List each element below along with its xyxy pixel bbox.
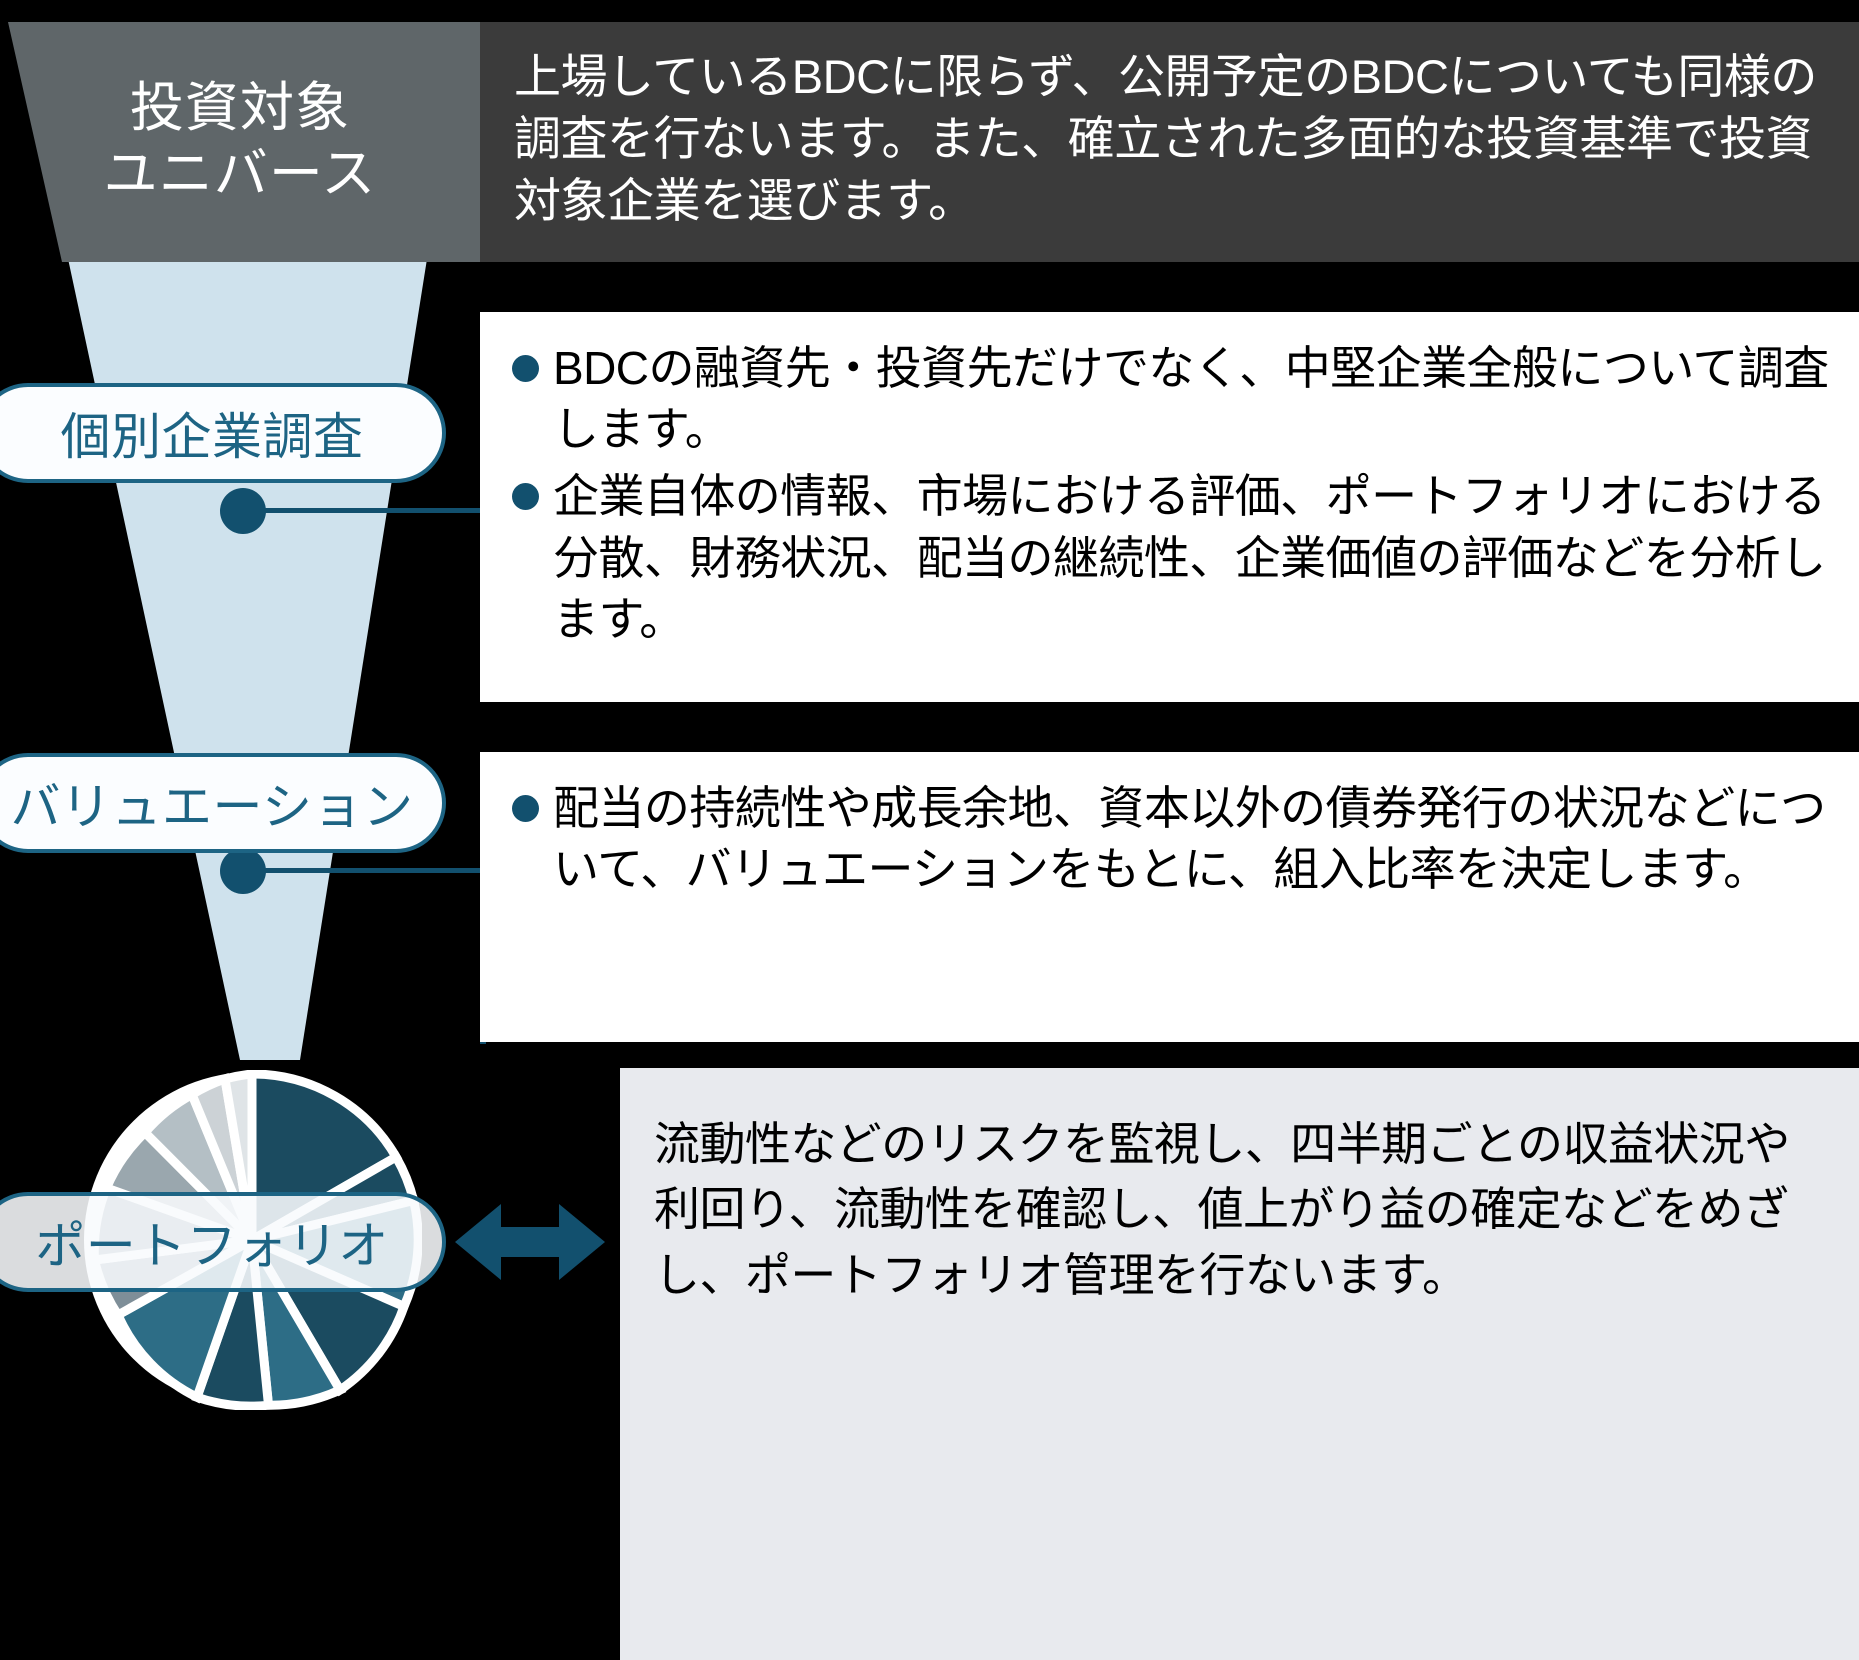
portfolio-description-text: 流動性などのリスクを監視し、四半期ごとの収益状況や利回り、流動性を確認し、値上が… (654, 1112, 1825, 1308)
connector-research-dot (220, 488, 266, 534)
bullet-text: BDCの融資先・投資先だけでなく、中堅企業全般について調査します。 (553, 338, 1829, 460)
stage-pill-valuation-label: バリュエーション (11, 767, 414, 839)
connector-research (0, 310, 500, 710)
stage-pill-research[interactable]: 個別企業調査 (0, 383, 446, 483)
connector-research-horizontal (248, 508, 484, 513)
header-stage-label-line1: 投資対象 (130, 76, 350, 142)
double-arrow-icon (455, 1196, 605, 1288)
header-description-text: 上場しているBDCに限らず、公開予定のBDCについても同様の調査を行ないます。ま… (514, 46, 1831, 232)
connector-valuation-dot (220, 848, 266, 894)
bullet-dot-icon (512, 355, 539, 382)
stage-pill-valuation[interactable]: バリュエーション (0, 753, 446, 853)
connector-valuation-horizontal (248, 868, 484, 873)
stage-pill-portfolio-label: ポートフォリオ (35, 1206, 389, 1278)
stage-pill-portfolio[interactable]: ポートフォリオ (0, 1192, 446, 1292)
portfolio-content-panel: 流動性などのリスクを監視し、四半期ごとの収益状況や利回り、流動性を確認し、値上が… (620, 1068, 1859, 1660)
valuation-content-panel: 配当の持続性や成長余地、資本以外の債券発行の状況などについて、バリュエーションを… (480, 752, 1859, 1042)
header-stage-label: 投資対象 ユニバース (0, 22, 480, 262)
header-stage-label-line2: ユニバース (104, 142, 377, 208)
bullet-item: BDCの融資先・投資先だけでなく、中堅企業全般について調査します。 (498, 338, 1829, 460)
bullet-dot-icon (512, 795, 539, 822)
header-stage-trapezoid: 投資対象 ユニバース (0, 22, 480, 262)
bullet-dot-icon (512, 483, 539, 510)
stage-pill-research-label: 個別企業調査 (61, 397, 364, 469)
research-content-panel: BDCの融資先・投資先だけでなく、中堅企業全般について調査します。 企業自体の情… (480, 312, 1859, 702)
header-description-panel: 上場しているBDCに限らず、公開予定のBDCについても同様の調査を行ないます。ま… (480, 22, 1859, 262)
bullet-item: 企業自体の情報、市場における評価、ポートフォリオにおける分散、財務状況、配当の継… (498, 466, 1829, 650)
bullet-text: 企業自体の情報、市場における評価、ポートフォリオにおける分散、財務状況、配当の継… (553, 466, 1829, 650)
bullet-item: 配当の持続性や成長余地、資本以外の債券発行の状況などについて、バリュエーションを… (498, 778, 1829, 900)
bullet-text: 配当の持続性や成長余地、資本以外の債券発行の状況などについて、バリュエーションを… (553, 778, 1829, 900)
